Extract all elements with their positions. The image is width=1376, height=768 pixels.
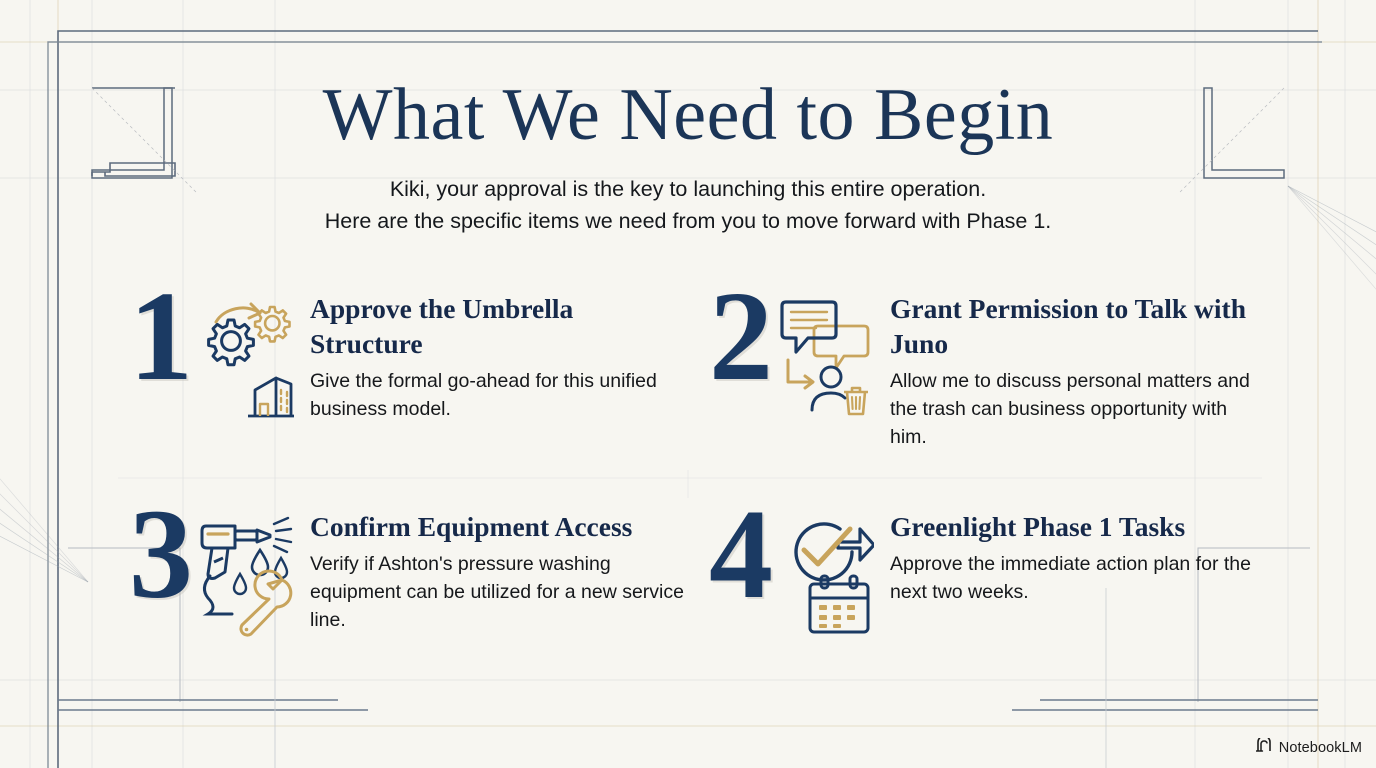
item-description: Allow me to discuss personal matters and… <box>890 368 1268 452</box>
item-description: Approve the immediate action plan for th… <box>890 551 1268 607</box>
item-text: Approve the Umbrella Structure Give the … <box>294 288 688 424</box>
requirements-grid: 1 <box>118 288 1268 724</box>
slide-subtitle: Kiki, your approval is the key to launch… <box>0 174 1376 237</box>
subtitle-line-1: Kiki, your approval is the key to launch… <box>0 174 1376 206</box>
item-heading: Confirm Equipment Access <box>310 510 688 545</box>
item-number: 2 <box>698 278 784 396</box>
notebooklm-logo-icon <box>1256 738 1273 758</box>
list-item: 4 <box>698 506 1268 724</box>
item-text: Grant Permission to Talk with Juno Allow… <box>874 288 1268 451</box>
item-description: Give the formal go-ahead for this unifie… <box>310 368 688 424</box>
speech-bubbles-person-trash-icon <box>778 294 874 424</box>
page-title: What We Need to Begin <box>0 78 1376 152</box>
item-number: 1 <box>118 278 204 396</box>
list-item: 3 <box>118 506 688 724</box>
item-number: 4 <box>698 496 784 614</box>
item-number: 3 <box>118 496 204 614</box>
list-item: 2 <box>698 288 1268 506</box>
item-text: Confirm Equipment Access Verify if Ashto… <box>294 506 688 635</box>
item-heading: Greenlight Phase 1 Tasks <box>890 510 1268 545</box>
check-arrow-calendar-icon <box>778 512 874 642</box>
slide-header: What We Need to Begin Kiki, your approva… <box>0 78 1376 237</box>
subtitle-line-2: Here are the specific items we need from… <box>0 206 1376 238</box>
item-text: Greenlight Phase 1 Tasks Approve the imm… <box>874 506 1268 607</box>
item-description: Verify if Ashton's pressure washing equi… <box>310 551 688 635</box>
pressure-washer-wrench-icon <box>198 512 294 642</box>
item-heading: Approve the Umbrella Structure <box>310 292 688 362</box>
item-heading: Grant Permission to Talk with Juno <box>890 292 1268 362</box>
list-item: 1 <box>118 288 688 506</box>
notebooklm-label: NotebookLM <box>1279 740 1362 756</box>
gears-and-building-icon <box>198 294 294 424</box>
slide-canvas: What We Need to Begin Kiki, your approva… <box>0 0 1376 768</box>
notebooklm-watermark: NotebookLM <box>1256 738 1362 758</box>
